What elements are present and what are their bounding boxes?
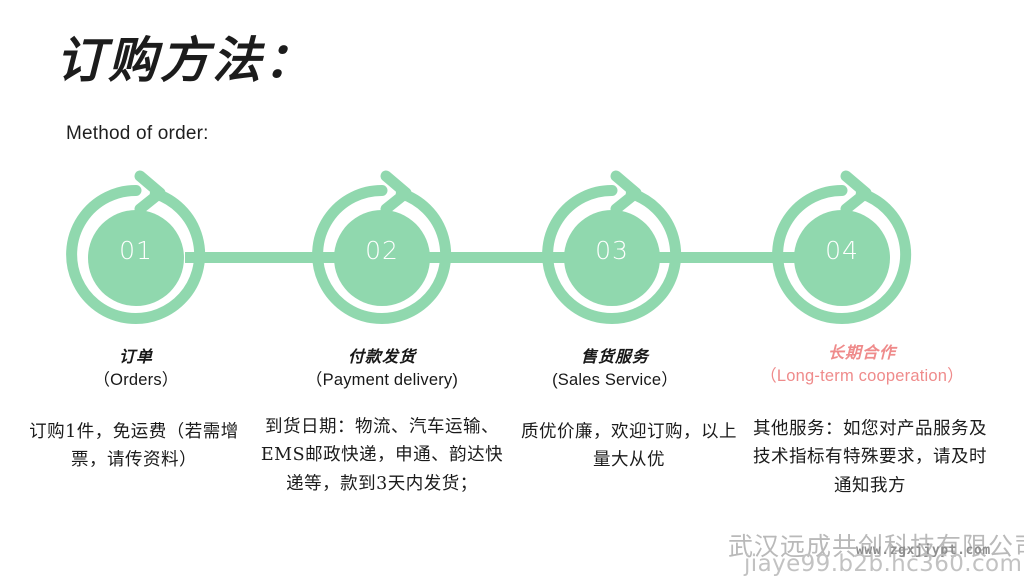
process-node-number-1: 01 xyxy=(56,170,216,330)
step-caption-3: 售货服务 (Sales Service） xyxy=(505,347,725,391)
process-node-3[interactable]: 03 xyxy=(532,170,692,330)
step-caption-cn-3: 售货服务 xyxy=(505,347,725,367)
step-caption-en-1: （Orders） xyxy=(26,370,246,391)
step-caption-cn-4: 长期合作 xyxy=(722,343,1002,363)
step-caption-4: 长期合作 （Long-term cooperation） xyxy=(722,343,1002,387)
step-caption-2: 付款发货 （Payment delivery) xyxy=(272,347,492,391)
step-caption-cn-1: 订单 xyxy=(26,347,246,367)
process-node-4[interactable]: 04 xyxy=(762,170,922,330)
step-caption-cn-2: 付款发货 xyxy=(272,347,492,367)
step-caption-en-2: （Payment delivery) xyxy=(272,370,492,391)
watermark-url-secondary: jiaye99.b2b.hc360.com xyxy=(744,551,1022,576)
step-body-3: 质优价廉，欢迎订购，以上量大从优 xyxy=(520,418,738,475)
page-title-cn: 订购方法： xyxy=(56,34,316,88)
step-body-2: 到货日期：物流、汽车运输、EMS邮政快递，申通、韵达快递等，款到3天内发货； xyxy=(258,413,506,498)
process-node-number-4: 04 xyxy=(762,170,922,330)
process-node-number-3: 03 xyxy=(532,170,692,330)
page-title-en: Method of order: xyxy=(66,123,209,145)
step-caption-en-3: (Sales Service） xyxy=(505,370,725,391)
slide-canvas: 订购方法： Method of order: 01 02 xyxy=(0,0,1024,576)
step-body-4: 其他服务：如您对产品服务及技术指标有特殊要求，请及时通知我方 xyxy=(752,415,988,500)
step-caption-en-4: （Long-term cooperation） xyxy=(722,366,1002,387)
process-node-2[interactable]: 02 xyxy=(302,170,462,330)
process-node-1[interactable]: 01 xyxy=(56,170,216,330)
step-caption-1: 订单 （Orders） xyxy=(26,347,246,391)
process-node-number-2: 02 xyxy=(302,170,462,330)
process-diagram: 01 02 03 04 xyxy=(0,170,1024,330)
step-body-1: 订购1件，免运费（若需增票，请传资料） xyxy=(28,418,240,475)
